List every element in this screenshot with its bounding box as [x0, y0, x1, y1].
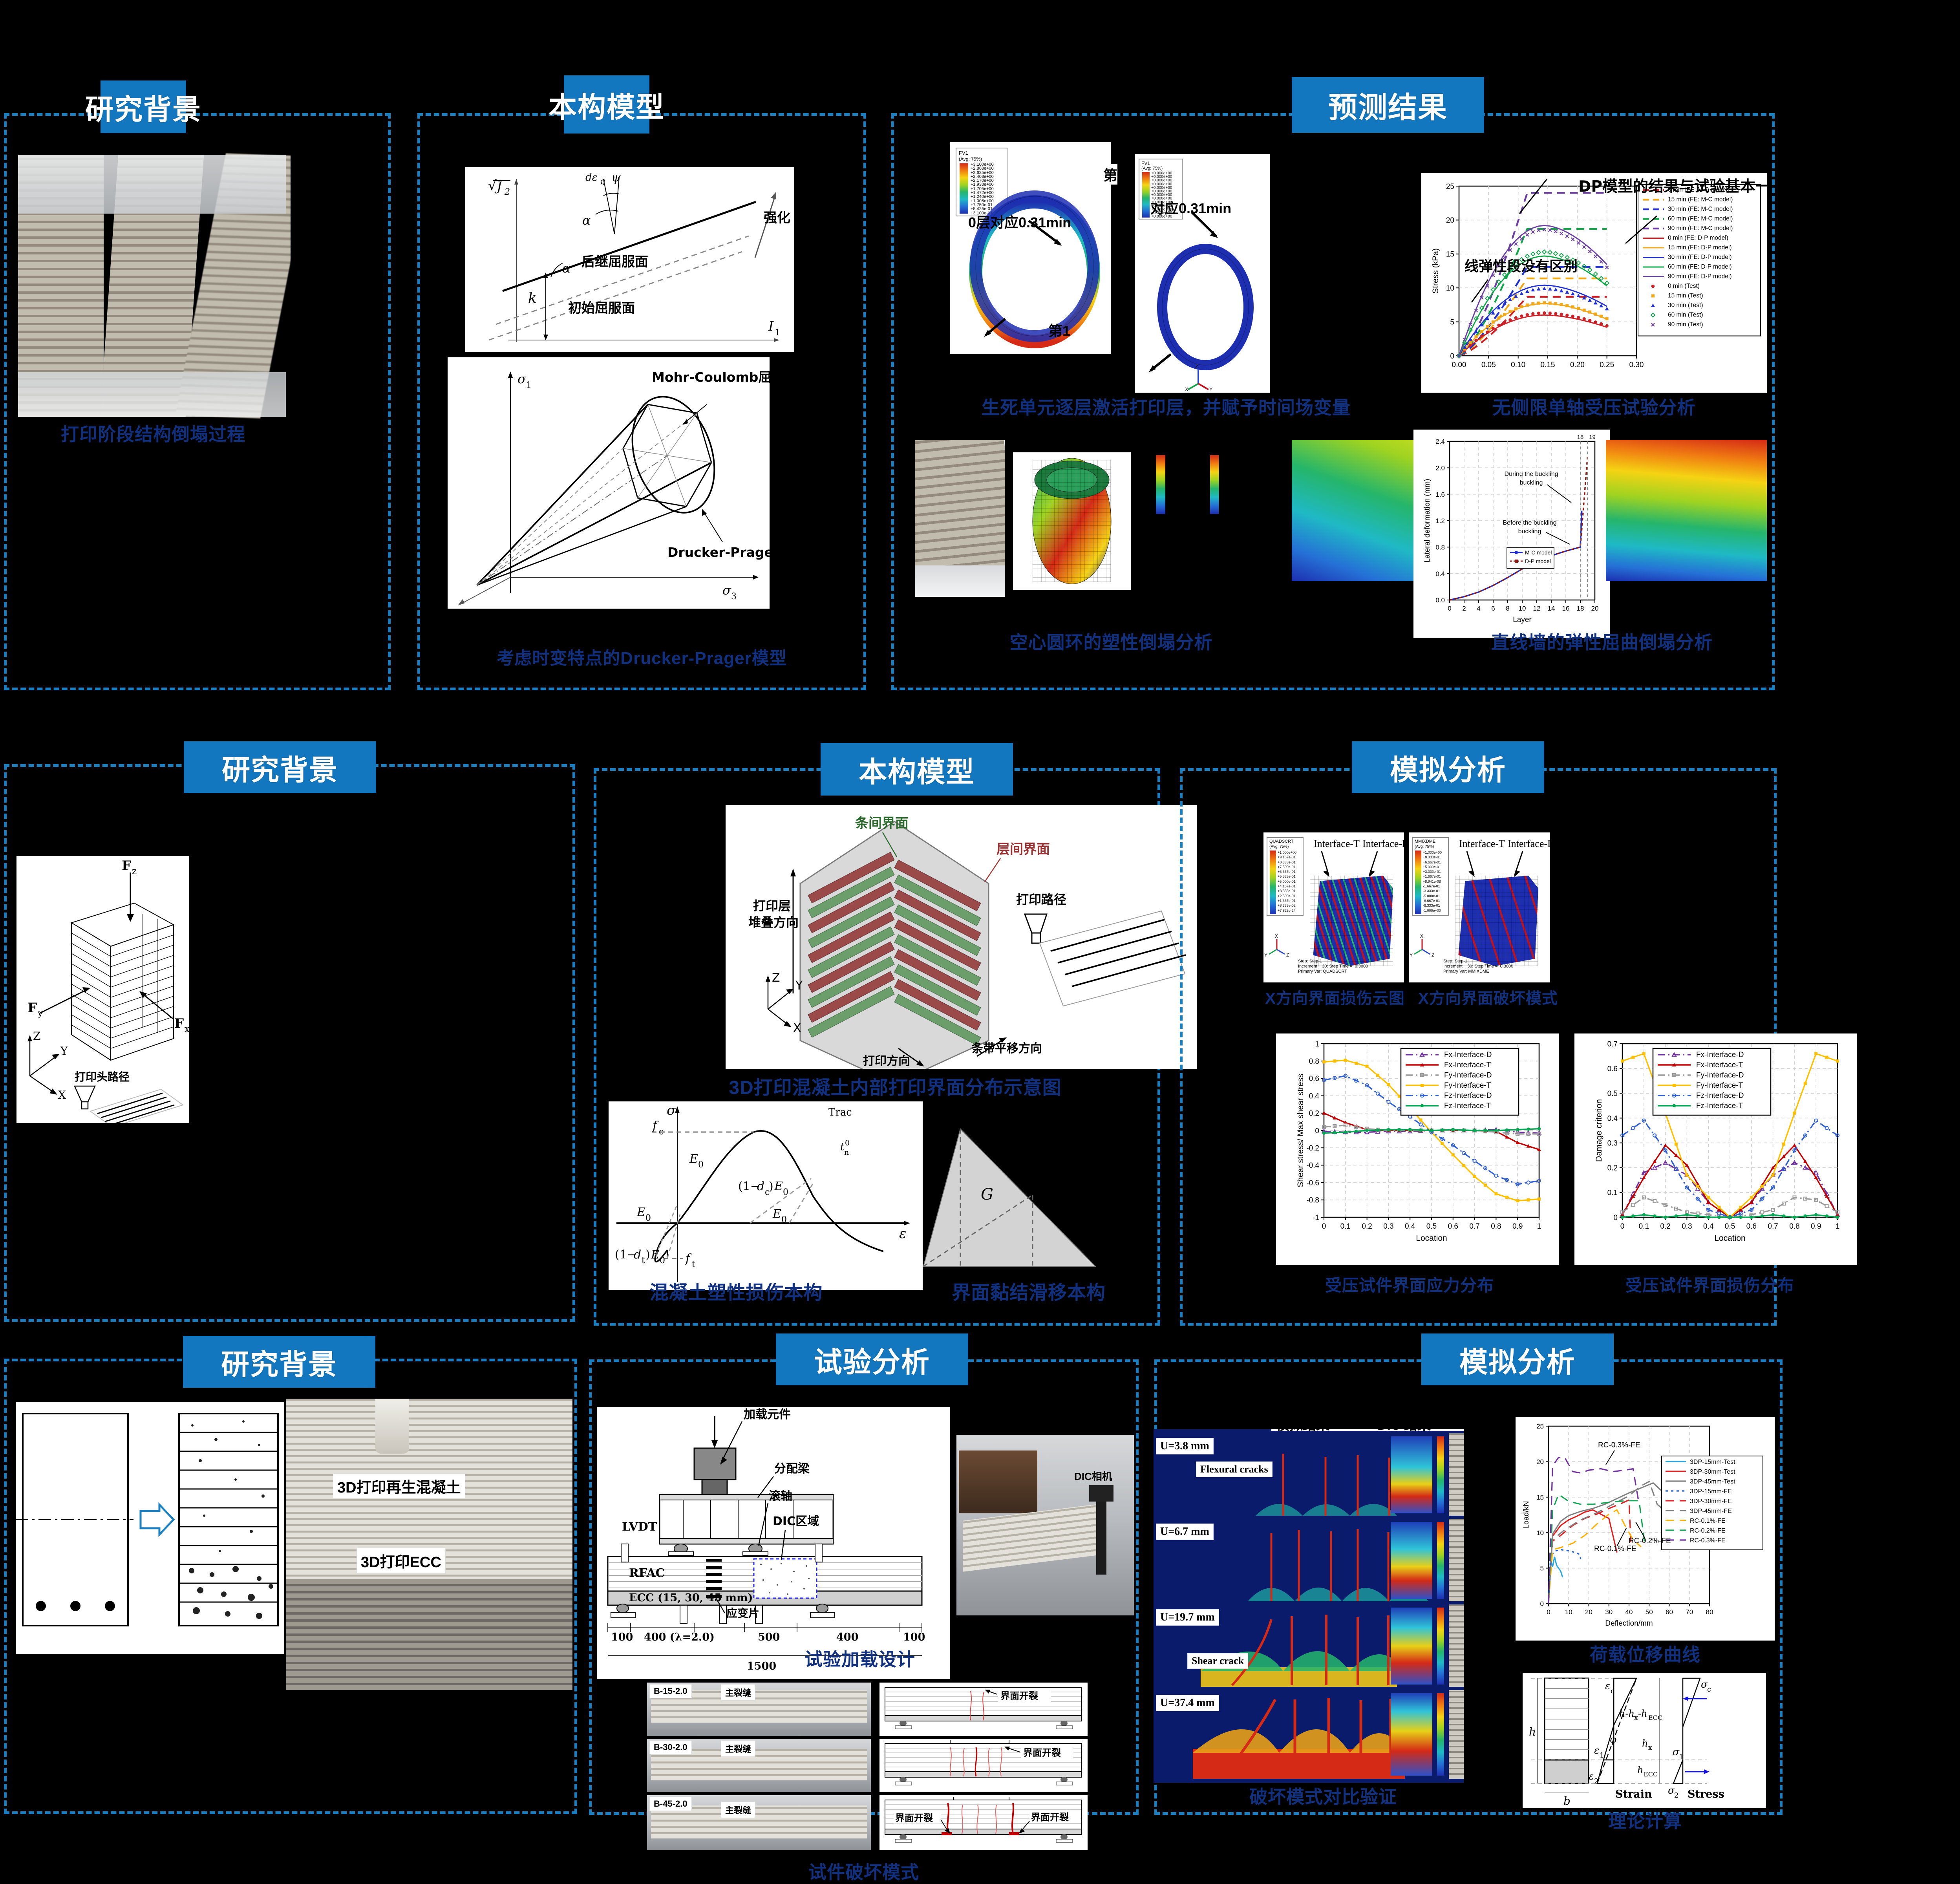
svg-text:0 min (Test): 0 min (Test): [1668, 283, 1700, 289]
svg-text:18: 18: [1577, 605, 1584, 612]
svg-text:Strain: Strain: [1615, 1788, 1652, 1800]
svg-text:h-h: h-h: [1619, 1708, 1635, 1719]
svg-text:界面开裂: 界面开裂: [1031, 1812, 1069, 1823]
svg-text:h: h: [1642, 1738, 1648, 1749]
svg-text:3DP-30mm-FE: 3DP-30mm-FE: [1690, 1498, 1732, 1505]
svg-text:Deflection/mm: Deflection/mm: [1605, 1619, 1653, 1628]
svg-text:0: 0: [1620, 1222, 1625, 1231]
svg-text:0: 0: [1322, 1222, 1326, 1231]
svg-text:h: h: [1529, 1725, 1536, 1738]
svg-text:Fy-Interface-D: Fy-Interface-D: [1696, 1071, 1744, 1079]
label-3dp-recycled-concrete: 3D打印再生混凝土: [333, 1473, 465, 1499]
svg-text:0.20: 0.20: [1570, 361, 1585, 369]
svg-text:12: 12: [1533, 605, 1541, 612]
svg-text:Fx-Interface-D: Fx-Interface-D: [1444, 1051, 1492, 1059]
caption-failure-mode-validation: 破坏模式对比验证: [1174, 1783, 1472, 1809]
panel-title-research-background-2: 研究背景: [184, 741, 376, 793]
svg-text:60 min (FE: M-C model): 60 min (FE: M-C model): [1668, 216, 1733, 222]
svg-text:Fz-Interface-D: Fz-Interface-D: [1696, 1092, 1744, 1100]
svg-text:0: 0: [845, 1139, 850, 1147]
svg-text:3DP-45mm-FE: 3DP-45mm-FE: [1690, 1508, 1732, 1515]
svg-text:3: 3: [731, 592, 737, 602]
svg-text:k: k: [528, 290, 537, 306]
svg-text:0.1: 0.1: [1340, 1222, 1351, 1231]
panel-title-research-background-1: 研究背景: [101, 80, 186, 133]
svg-text:Fx-Interface-T: Fx-Interface-T: [1444, 1061, 1491, 1069]
svg-text:buckling: buckling: [1520, 479, 1543, 486]
caption-interface-distribution: 3D打印混凝土内部打印界面分布示意图: [664, 1072, 1127, 1099]
svg-text:Z: Z: [1432, 952, 1434, 958]
svg-text:0: 0: [1540, 1600, 1544, 1608]
svg-text:M-C model: M-C model: [1525, 549, 1552, 556]
svg-text:20: 20: [1446, 216, 1454, 225]
svg-text:0.30: 0.30: [1629, 361, 1644, 369]
figure-quadscrt-damage: QUADSCRT (Avg: 75%) +1.000e+00+9.167e-01…: [1263, 832, 1404, 982]
svg-text:25: 25: [1446, 183, 1454, 191]
svg-text:0.6: 0.6: [1607, 1065, 1618, 1073]
svg-text:buckling: buckling: [1518, 528, 1541, 535]
svg-text:1: 1: [1836, 1222, 1840, 1231]
svg-text:0.2: 0.2: [1607, 1164, 1618, 1172]
figure-fem-ring-layer20: FV1 (Avg: 75%) +3.100e+00+2.868e+00+2.63…: [950, 142, 1111, 354]
svg-text:n: n: [844, 1148, 849, 1157]
svg-text:0.00: 0.00: [1452, 361, 1466, 369]
svg-text:-0.2: -0.2: [1306, 1144, 1319, 1152]
svg-text:Fx-Interface-T: Fx-Interface-T: [1696, 1061, 1743, 1069]
svg-text:30 min (FE: M-C model): 30 min (FE: M-C model): [1668, 206, 1733, 212]
figure-printed-beam-photo: 3D打印再生混凝土 3D打印ECC: [286, 1399, 572, 1690]
panel-title-simulation-analysis-3: 模拟分析: [1421, 1333, 1614, 1385]
svg-text:0.7: 0.7: [1469, 1222, 1479, 1231]
crack-stage-1: U=3.8 mm Flexural cracks: [1154, 1433, 1464, 1516]
svg-text:0: 0: [1315, 1127, 1319, 1135]
caption-concrete-damage-plasticity: 混凝土塑性损伤本构: [607, 1277, 866, 1304]
svg-text:E: E: [636, 1205, 645, 1219]
svg-text:0.15: 0.15: [1541, 361, 1555, 369]
svg-text:ECC (15, 30, 45 mm): ECC (15, 30, 45 mm): [629, 1592, 753, 1604]
svg-text:Damage criterion: Damage criterion: [1594, 1099, 1603, 1162]
caption-test-loading-design: 试验加载设计: [722, 1645, 997, 1671]
svg-text:80: 80: [1706, 1608, 1713, 1616]
label-main-crack-2: 主裂缝: [721, 1740, 755, 1757]
svg-text:b: b: [1563, 1794, 1571, 1807]
label-u67: U=6.7 mm: [1156, 1524, 1214, 1540]
svg-text:ε: ε: [1594, 1745, 1599, 1756]
svg-text:100: 100: [903, 1631, 925, 1643]
figure-beam-section-schematic: [16, 1402, 284, 1654]
svg-text:c: c: [1611, 1687, 1614, 1695]
svg-text:1.6: 1.6: [1435, 491, 1445, 498]
svg-text:α: α: [582, 213, 591, 228]
svg-text:c: c: [1707, 1685, 1711, 1694]
figure-crack-simulation-vs-dic: 模拟结果 DIC 结果 U=3.8 mm Flexural cracks: [1154, 1429, 1464, 1783]
svg-text:Mohr-Coulomb屈服准: Mohr-Coulomb屈服准: [652, 369, 770, 385]
svg-text:Z: Z: [33, 1030, 40, 1043]
figure-crack-pattern-b15: 界面开裂: [879, 1683, 1088, 1736]
svg-text:f: f: [652, 1119, 659, 1133]
caption-interface-shear-stress: 受压试件界面应力分布: [1264, 1272, 1555, 1296]
svg-text:Y: Y: [60, 1044, 68, 1057]
svg-text:1: 1: [775, 328, 780, 338]
svg-text:): ): [769, 1180, 773, 1193]
svg-text:界面开裂: 界面开裂: [1023, 1747, 1061, 1758]
svg-text:f: f: [685, 1252, 692, 1266]
svg-text:5: 5: [1540, 1565, 1544, 1572]
svg-text:1: 1: [1315, 1040, 1319, 1048]
svg-text:20: 20: [1585, 1608, 1592, 1616]
svg-text:400: 400: [836, 1631, 858, 1643]
svg-text:Location: Location: [1416, 1234, 1447, 1243]
svg-text:50: 50: [1646, 1608, 1653, 1616]
svg-text:1: 1: [526, 380, 532, 390]
svg-text:): ): [645, 1248, 650, 1262]
svg-text:0.9: 0.9: [1512, 1222, 1523, 1231]
svg-text:During the buckling: During the buckling: [1505, 471, 1558, 477]
svg-text:-1: -1: [1313, 1214, 1319, 1222]
svg-text:10: 10: [1446, 284, 1454, 293]
svg-text:2: 2: [504, 187, 510, 197]
label-u38: U=3.8 mm: [1156, 1438, 1214, 1454]
svg-text:3DP-45mm-Test: 3DP-45mm-Test: [1690, 1478, 1735, 1485]
svg-text:X: X: [1185, 386, 1188, 392]
figure-fem-ring-deformed: [1013, 452, 1131, 590]
svg-text:Y: Y: [1410, 952, 1413, 958]
crack-stage-4: U=37.4 mm: [1154, 1690, 1464, 1779]
svg-text:F: F: [122, 858, 131, 874]
figure-mc-dp-cone: σ 1 σ 3 Mohr-Coulomb屈服准 Drucker-Prage: [448, 357, 770, 609]
svg-text:2: 2: [1594, 1777, 1598, 1785]
row-3: 研究背景: [0, 1327, 1960, 1826]
svg-text:2: 2: [1462, 605, 1466, 612]
svg-text:90 min (FE: M-C model): 90 min (FE: M-C model): [1668, 225, 1733, 232]
svg-text:Stress (kPa): Stress (kPa): [1431, 248, 1440, 294]
svg-text:500: 500: [758, 1631, 780, 1643]
svg-text:ECC: ECC: [1644, 1771, 1658, 1778]
svg-text:19: 19: [1589, 434, 1596, 441]
svg-text:4: 4: [1477, 605, 1480, 612]
caption-print-stage-collapse: 打印阶段结构倒塌过程: [16, 420, 291, 446]
svg-text:0.2: 0.2: [1660, 1222, 1670, 1231]
svg-text:RFAC: RFAC: [629, 1566, 665, 1580]
panel-title-simulation-analysis-2: 模拟分析: [1352, 741, 1544, 793]
svg-text:0.25: 0.25: [1600, 361, 1614, 369]
panel-title-research-background-3: 研究背景: [183, 1336, 375, 1388]
svg-text:Fy-Interface-T: Fy-Interface-T: [1444, 1081, 1491, 1090]
svg-text:0.7: 0.7: [1768, 1222, 1778, 1231]
svg-text:Fz-Interface-D: Fz-Interface-D: [1444, 1092, 1492, 1100]
svg-text:E: E: [772, 1207, 781, 1221]
svg-text:15 min (Test): 15 min (Test): [1668, 293, 1703, 299]
svg-text:Location: Location: [1714, 1234, 1745, 1243]
svg-text:1: 1: [1600, 1751, 1604, 1760]
svg-text:加载元件: 加载元件: [744, 1408, 791, 1421]
svg-text:RC-0.2%-FE: RC-0.2%-FE: [1629, 1537, 1671, 1545]
svg-text:70: 70: [1686, 1608, 1693, 1616]
svg-text:0.0: 0.0: [1435, 596, 1445, 604]
svg-text:Stress: Stress: [1688, 1788, 1724, 1800]
svg-text:t: t: [642, 1256, 645, 1266]
svg-text:X: X: [793, 1021, 801, 1035]
svg-text:15 min (FE: D-P model): 15 min (FE: D-P model): [1668, 244, 1732, 251]
svg-text:RC-0.2%-FE: RC-0.2%-FE: [1690, 1527, 1726, 1534]
label-u374: U=37.4 mm: [1156, 1695, 1219, 1711]
svg-text:条带平移方向: 条带平移方向: [971, 1042, 1042, 1055]
svg-text:x: x: [185, 1024, 189, 1034]
svg-text:c: c: [659, 1127, 664, 1137]
svg-text:Trac: Trac: [828, 1107, 852, 1118]
figure-cohesive-traction-separation: G: [915, 1125, 1135, 1274]
svg-text:d: d: [634, 1248, 641, 1262]
svg-text:100: 100: [611, 1631, 633, 1643]
svg-text:σ: σ: [722, 583, 731, 598]
svg-text:0: 0: [698, 1160, 704, 1170]
svg-text:打印层: 打印层: [753, 898, 791, 913]
svg-text:0.8: 0.8: [1309, 1057, 1319, 1066]
svg-text:层间界面: 层间界面: [996, 841, 1050, 857]
svg-text:后继屈服面: 后继屈服面: [581, 254, 648, 270]
svg-text:20: 20: [1536, 1458, 1544, 1466]
label-main-crack-3: 主裂缝: [721, 1802, 755, 1818]
svg-text:RC-0.1%-FE: RC-0.1%-FE: [1594, 1545, 1636, 1553]
svg-text:h: h: [1637, 1765, 1643, 1776]
figure-mmixdme-failure-mode: MMIXDME (Avg: 75%) +1.000e+00+8.333e-01+…: [1409, 832, 1550, 982]
panel-title-prediction-results: 预测结果: [1292, 77, 1484, 133]
svg-text:60 min (Test): 60 min (Test): [1668, 312, 1703, 318]
svg-text:10: 10: [1519, 605, 1526, 612]
chart-interface-damage: 00.10.20.30.40.50.60.70.80.9100.10.20.30…: [1574, 1033, 1857, 1265]
svg-text:x: x: [1648, 1744, 1652, 1752]
svg-text:90 min (FE: D-P model): 90 min (FE: D-P model): [1668, 273, 1732, 280]
svg-text:α: α: [562, 261, 571, 276]
svg-text:0.4: 0.4: [1435, 570, 1445, 578]
svg-text:0.8: 0.8: [1789, 1222, 1799, 1231]
caption-birth-death-element: 生死单元逐层激活打印层，并赋予时间场变量: [899, 393, 1433, 419]
svg-text:Lateral deformation (mm): Lateral deformation (mm): [1423, 479, 1432, 562]
figure-printed-cube-forces: F z F y F x Z Y X 打印头路径: [16, 856, 189, 1123]
svg-text:0.9: 0.9: [1811, 1222, 1821, 1231]
label-layer20-time: 第: [1103, 164, 1117, 185]
svg-text:0.5: 0.5: [1607, 1090, 1618, 1098]
svg-text:F: F: [174, 1016, 184, 1032]
figure-fem-ring-layer1: FV1 (Avg: 75%) +0.000e+00+0.000e+00+0.00…: [1135, 154, 1270, 393]
chart-lateral-deformation: 024681012141618200.00.40.81.21.62.02.4La…: [1413, 430, 1610, 638]
svg-text:3DP-15mm-Test: 3DP-15mm-Test: [1690, 1459, 1735, 1465]
svg-text:60: 60: [1666, 1608, 1673, 1616]
caption-x-interface-failure-mode: X方向界面破坏模式: [1402, 986, 1574, 1008]
svg-text:0.8: 0.8: [1435, 543, 1445, 551]
svg-text:1.2: 1.2: [1435, 517, 1445, 525]
figure-ring-collapse-photo: [915, 440, 1005, 597]
svg-text:ε: ε: [1589, 1771, 1594, 1782]
figure-test-setup-schematic: RFAC ECC (15, 30, 45 mm) 加载: [597, 1407, 950, 1679]
svg-text:z: z: [132, 866, 137, 876]
svg-text:Shear stress/ Max shear stress: Shear stress/ Max shear stress: [1296, 1074, 1305, 1187]
label-u197: U=19.7 mm: [1156, 1609, 1219, 1626]
svg-text:30 min (FE: D-P model): 30 min (FE: D-P model): [1668, 254, 1732, 261]
svg-text:0.3: 0.3: [1682, 1222, 1692, 1231]
panel-title-constitutive-model-2: 本构模型: [821, 743, 1013, 796]
svg-text:0 min (FE: D-P model): 0 min (FE: D-P model): [1668, 235, 1728, 241]
svg-text:0.4: 0.4: [1703, 1222, 1714, 1231]
caption-theoretical-calculation: 理论计算: [1523, 1807, 1767, 1833]
svg-text:0.8: 0.8: [1491, 1222, 1501, 1231]
svg-text:d: d: [757, 1180, 764, 1193]
svg-text:0: 0: [1450, 352, 1454, 360]
svg-text:40: 40: [1625, 1608, 1633, 1616]
svg-text:90 min (Test): 90 min (Test): [1668, 321, 1703, 328]
svg-text:3DP-30mm-Test: 3DP-30mm-Test: [1690, 1469, 1735, 1475]
svg-text:φ: φ: [1610, 1734, 1616, 1745]
svg-text:15: 15: [1536, 1494, 1544, 1501]
svg-text:界面开裂: 界面开裂: [1000, 1690, 1038, 1701]
svg-text:0.3: 0.3: [1607, 1139, 1618, 1147]
row-1: 研究背景 打印阶段结构倒塌过程 本构模型 √ J 2 后继屈服面 初始屈服面 k: [0, 0, 1960, 707]
row-2: 研究背景 F z: [0, 730, 1960, 1319]
svg-text:x: x: [1634, 1714, 1638, 1722]
svg-text:D-P model: D-P model: [1525, 558, 1551, 564]
svg-text:-h: -h: [1638, 1708, 1647, 1719]
caption-x-interface-damage-contour: X方向界面损伤云图: [1249, 986, 1421, 1008]
svg-text:0.05: 0.05: [1481, 361, 1496, 369]
svg-text:打印路径: 打印路径: [1016, 892, 1066, 907]
figure-theoretical-section: h b ε c ε 1 ε 2 φ Strain h-h x -h ECC h …: [1523, 1673, 1766, 1808]
svg-text:界面开裂: 界面开裂: [895, 1813, 933, 1824]
svg-text:打印方向: 打印方向: [863, 1054, 910, 1068]
figure-beam-photo-b15: B-15-2.0 主裂缝: [647, 1683, 871, 1736]
figure-interface-distribution: 条间界面 层间界面 打印层 堆叠方向 Z Y X 打印方向 条带平移方向 打印路…: [726, 805, 1197, 1069]
svg-text:0.4: 0.4: [1405, 1222, 1415, 1231]
svg-text:0.6: 0.6: [1309, 1075, 1319, 1083]
svg-text:应变片: 应变片: [726, 1607, 759, 1620]
svg-text:y: y: [37, 1008, 43, 1019]
svg-text:Fy-Interface-T: Fy-Interface-T: [1696, 1081, 1743, 1090]
label-flexural-cracks: Flexural cracks: [1196, 1461, 1273, 1477]
caption-hollow-ring-collapse: 空心圆环的塑性倒塌分析: [915, 628, 1307, 654]
svg-text:ε: ε: [899, 1226, 906, 1242]
svg-text:1: 1: [1679, 1753, 1683, 1761]
svg-text:线弹性段没有区别: 线弹性段没有区别: [1465, 258, 1578, 274]
svg-text:条间界面: 条间界面: [855, 816, 909, 831]
svg-text:6: 6: [1491, 605, 1495, 612]
svg-text:0.6: 0.6: [1448, 1222, 1458, 1231]
svg-text:2.4: 2.4: [1435, 438, 1445, 445]
svg-text:G: G: [981, 1185, 993, 1204]
svg-text:400 (λ=2.0): 400 (λ=2.0): [644, 1631, 715, 1643]
svg-text:10: 10: [1536, 1529, 1544, 1536]
svg-text:dε: dε: [585, 172, 598, 183]
svg-text:15 min (FE: M-C model): 15 min (FE: M-C model): [1668, 196, 1733, 203]
svg-text:20: 20: [1591, 605, 1599, 612]
svg-text:Z: Z: [772, 971, 780, 985]
svg-text:2.0: 2.0: [1435, 464, 1445, 472]
svg-text:0.7: 0.7: [1607, 1040, 1618, 1048]
svg-text:F: F: [27, 1000, 37, 1016]
svg-text:0.1: 0.1: [1639, 1222, 1649, 1231]
svg-text:打印头路径: 打印头路径: [75, 1070, 130, 1083]
svg-text:Y: Y: [1264, 952, 1267, 958]
svg-text:5: 5: [1450, 318, 1454, 326]
label-3dp-ecc: 3D打印ECC: [357, 1548, 446, 1573]
svg-text:0: 0: [783, 1187, 788, 1197]
svg-text:Drucker-Prager 屈: Drucker-Prager 屈: [667, 545, 770, 560]
svg-text:0.2: 0.2: [1362, 1222, 1372, 1231]
svg-text:30 min (Test): 30 min (Test): [1668, 302, 1703, 309]
figure-fem-wall-strips: [1150, 446, 1280, 611]
panel-title-experimental-analysis: 试验分析: [776, 1333, 968, 1385]
svg-text:ECC: ECC: [1648, 1714, 1662, 1721]
figure-test-rig-photo: DIC相机: [956, 1435, 1134, 1615]
svg-text:RC-0.3%-FE: RC-0.3%-FE: [1690, 1537, 1726, 1544]
figure-collapse-photos: [16, 152, 291, 419]
svg-text:30: 30: [1605, 1608, 1613, 1616]
label-b45: B-45-2.0: [649, 1797, 692, 1811]
svg-text:分配梁: 分配梁: [774, 1462, 810, 1476]
svg-text:Fz-Interface-T: Fz-Interface-T: [1696, 1102, 1743, 1110]
label-dic-camera: DIC相机: [1074, 1469, 1112, 1483]
svg-text:初始屈服面: 初始屈服面: [568, 300, 635, 316]
caption-interface-damage: 受压试件界面损伤分布: [1565, 1272, 1855, 1296]
label-b15: B-15-2.0: [649, 1684, 692, 1698]
figure-concrete-damage-plasticity: ε σ f c f t E 0 (1− d c ) E 0 E 0: [609, 1101, 923, 1290]
chart-interface-shear-stress: 00.10.20.30.40.50.60.70.80.91-1-0.8-0.6-…: [1276, 1033, 1559, 1265]
svg-text:18: 18: [1577, 434, 1584, 441]
label-b30: B-30-2.0: [649, 1740, 692, 1754]
svg-text:0.4: 0.4: [1607, 1114, 1618, 1123]
svg-text:0.5: 0.5: [1725, 1222, 1735, 1231]
svg-text:Y: Y: [1209, 386, 1213, 392]
caption-wall-buckling: 直线墙的弹性屈曲倒塌分析: [1406, 628, 1798, 654]
svg-text:Fx-Interface-D: Fx-Interface-D: [1696, 1051, 1744, 1059]
caption-load-deflection: 荷载位移曲线: [1519, 1641, 1771, 1666]
caption-drucker-prager-model: 考虑时变特点的Drucker-Prager模型: [426, 644, 858, 669]
label-main-crack-1: 主裂缝: [721, 1684, 755, 1701]
svg-text:0.5: 0.5: [1426, 1222, 1437, 1231]
svg-text:滚轴: 滚轴: [769, 1489, 792, 1503]
svg-text:60 min (FE: D-P model): 60 min (FE: D-P model): [1668, 263, 1732, 270]
caption-uniaxial-compression: 无侧限单轴受压试验分析: [1417, 393, 1771, 419]
svg-text:Load/kN: Load/kN: [1522, 1501, 1530, 1529]
svg-text:DP模型的结果与试验基本一致: DP模型的结果与试验基本一致: [1578, 178, 1767, 196]
figure-beam-photo-b30: B-30-2.0 主裂缝: [647, 1739, 871, 1792]
figure-crack-pattern-b30: 界面开裂: [879, 1739, 1088, 1792]
svg-text:0.1: 0.1: [1607, 1189, 1618, 1197]
svg-text:Y: Y: [795, 979, 803, 993]
svg-text:3DP-15mm-FE: 3DP-15mm-FE: [1690, 1488, 1732, 1495]
chart-uniaxial-compression: 0.000.050.100.150.200.250.300510152025St…: [1421, 173, 1767, 393]
caption-specimen-failure-mode: 试件破坏模式: [726, 1858, 1001, 1884]
svg-text:强化: 强化: [764, 210, 790, 226]
svg-text:16: 16: [1562, 605, 1570, 612]
svg-text:Fy-Interface-D: Fy-Interface-D: [1444, 1071, 1492, 1079]
svg-text:堆叠方向: 堆叠方向: [748, 915, 799, 930]
svg-text:15: 15: [1446, 251, 1454, 259]
svg-text:ε: ε: [1605, 1680, 1610, 1692]
svg-text:DIC区域: DIC区域: [773, 1515, 819, 1528]
svg-text:0.6: 0.6: [1746, 1222, 1757, 1231]
svg-text:25: 25: [1536, 1423, 1544, 1430]
svg-text:1: 1: [1537, 1222, 1541, 1231]
svg-text:E: E: [651, 1248, 660, 1262]
svg-text:0.3: 0.3: [1383, 1222, 1393, 1231]
chart-load-deflection: 010203040506070800510152025Deflection/mm…: [1516, 1417, 1775, 1641]
svg-text:Z: Z: [1195, 364, 1198, 369]
figure-fem-wall-right: [1606, 440, 1767, 581]
svg-text:X: X: [58, 1088, 66, 1101]
svg-text:RC-0.3%-FE: RC-0.3%-FE: [1598, 1441, 1640, 1449]
figure-crack-pattern-b45: 界面开裂 界面开裂: [879, 1795, 1088, 1850]
svg-text:0.2: 0.2: [1309, 1110, 1319, 1118]
svg-text:-0.6: -0.6: [1306, 1179, 1319, 1187]
